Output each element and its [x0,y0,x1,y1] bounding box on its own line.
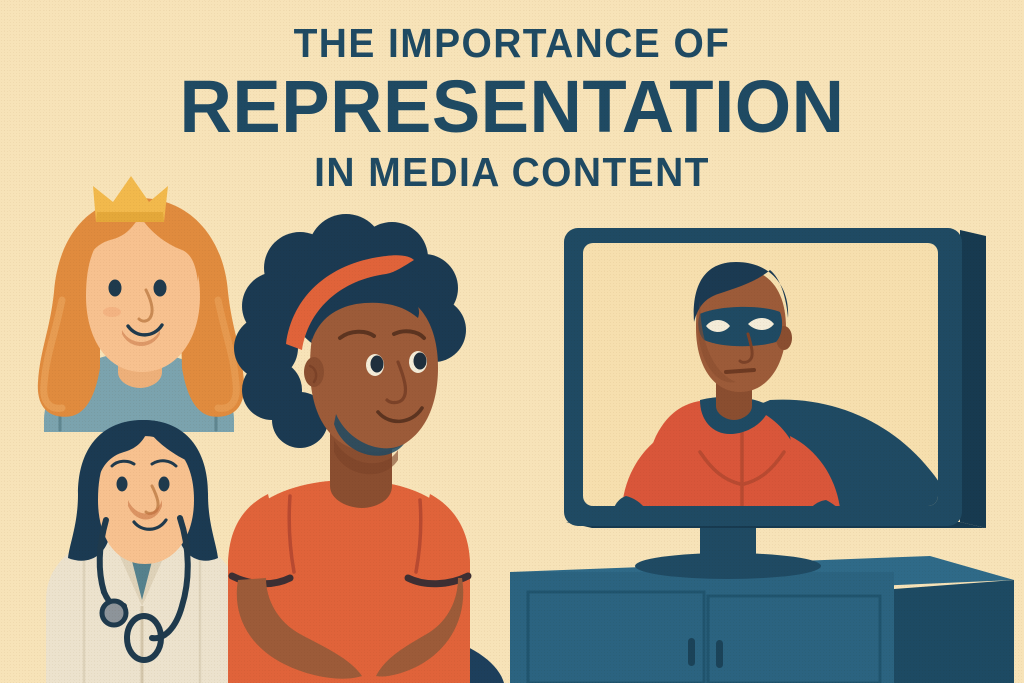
cabinet-handle-left[interactable] [688,638,695,666]
representation-poster: THE IMPORTANCE OF REPRESENTATION IN MEDI… [0,0,1024,683]
television [510,228,1014,683]
doctor-eye-right [159,477,170,492]
girl-eye-left [371,356,384,373]
cabinet-side [894,580,1014,683]
girl-eye-right [414,353,427,370]
tv-neck [700,528,756,562]
title-line-1: THE IMPORTANCE OF [26,22,999,65]
page-title: THE IMPORTANCE OF REPRESENTATION IN MEDI… [0,22,1024,194]
princess-eye-left [109,280,122,297]
crown-band [96,212,164,222]
superhero-mouth [726,370,754,372]
title-line-2: REPRESENTATION [10,69,1014,144]
cabinet-front [510,572,894,683]
stethoscope-chestpiece [102,601,126,625]
title-line-3: IN MEDIA CONTENT [26,151,999,194]
cabinet-handle-right[interactable] [716,640,723,668]
doctor-eye-left [117,477,128,492]
princess-blush [103,307,121,317]
princess-eye-right [154,280,167,297]
tv-side-edge [960,230,986,528]
